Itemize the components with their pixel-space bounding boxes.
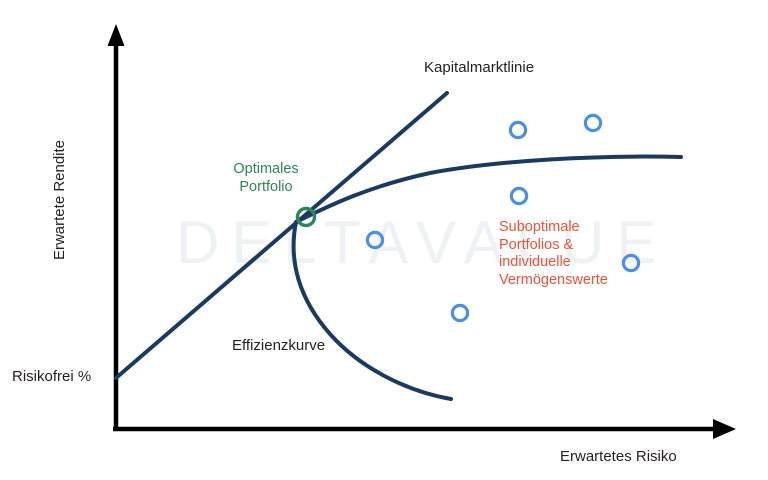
chart-canvas: DELTAVALUE Erwartete Rendite [0,0,768,480]
optimal-portfolio-label: Optimales Portfolio [214,161,318,196]
capital-market-line [116,93,447,378]
asset-marker [585,115,600,130]
efficient-frontier-label: Effizienzkurve [232,337,325,355]
capital-market-line-label: Kapitalmarktlinie [424,59,534,77]
y-axis-label: Erwartete Rendite [51,140,69,260]
y-axis [108,24,125,429]
asset-marker [367,232,382,247]
asset-marker [510,122,525,137]
x-axis [113,419,736,439]
suboptimal-asset-markers [367,115,638,320]
x-axis-label: Erwartetes Risiko [560,448,677,466]
asset-marker [452,305,467,320]
chart-graphics [0,0,768,480]
risk-free-rate-label: Risikofrei % [12,368,91,386]
suboptimal-portfolios-label: Suboptimale Portfolios & individuelle Ve… [499,219,635,290]
efficient-frontier-upper [296,157,681,222]
asset-marker [511,188,526,203]
